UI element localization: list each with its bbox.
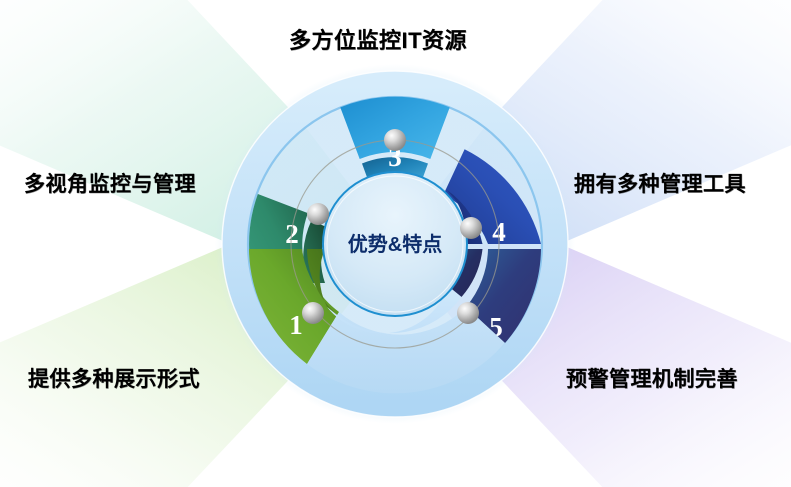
wheel-diagram: 2 3 4 5 1 bbox=[0, 0, 791, 487]
label-left-bottom: 提供多种展示形式 bbox=[28, 363, 200, 393]
marker-2[interactable] bbox=[307, 203, 329, 225]
label-right-bottom: 预警管理机制完善 bbox=[566, 363, 738, 393]
segment-1-number: 1 bbox=[289, 310, 303, 340]
label-left-top: 多视角监控与管理 bbox=[24, 168, 196, 198]
marker-3[interactable] bbox=[384, 129, 406, 151]
diagram-canvas: 2 3 4 5 1 bbox=[0, 0, 791, 487]
title-top-label: 多方位监控IT资源 bbox=[289, 23, 467, 55]
marker-5[interactable] bbox=[457, 302, 479, 324]
label-right-top: 拥有多种管理工具 bbox=[574, 168, 746, 198]
marker-1[interactable] bbox=[302, 302, 324, 324]
center-label: 优势&特点 bbox=[348, 232, 442, 256]
marker-4[interactable] bbox=[460, 217, 482, 239]
